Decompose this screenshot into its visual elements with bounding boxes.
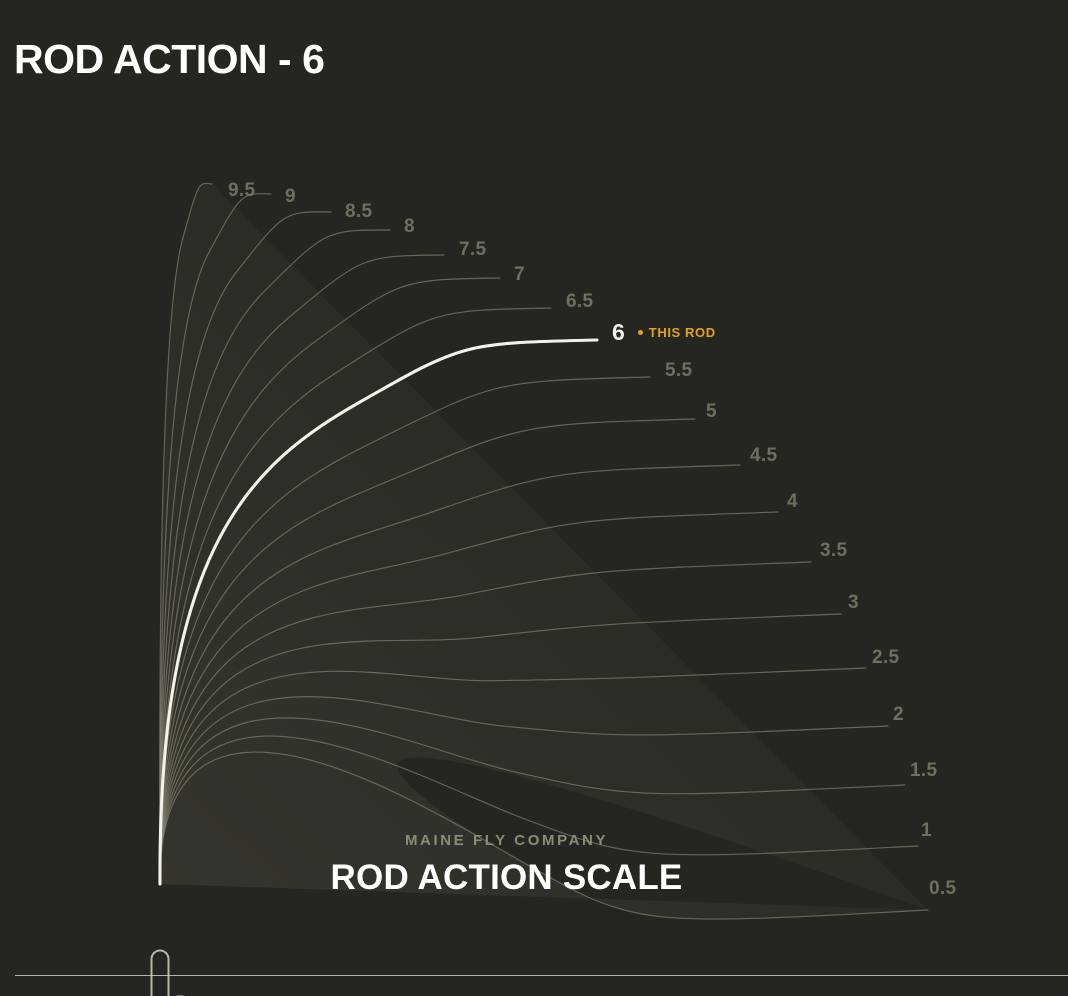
curve-label-4: 4 <box>787 491 798 513</box>
curve-fan-shading <box>160 183 928 919</box>
rod-action-diagram: 9.598.587.576.55.554.543.532.521.510.5 6… <box>0 72 1068 996</box>
curve-label-6-5: 6.5 <box>566 291 593 313</box>
curve-label-4-5: 4.5 <box>750 445 777 467</box>
brand-block: MAINE FLY COMPANY ROD ACTION SCALE <box>0 832 1013 898</box>
curve-fan-shading-shape <box>160 183 928 919</box>
rod-grip-icon <box>152 951 169 996</box>
rod-action-scale-page: ROD ACTION - 6 <box>0 0 1068 996</box>
curve-label-9-5: 9.5 <box>228 180 255 202</box>
curve-label-1-5: 1.5 <box>910 760 937 782</box>
curve-label-3-5: 3.5 <box>820 540 847 562</box>
curve-label-3: 3 <box>848 592 859 614</box>
curve-label-2-5: 2.5 <box>872 647 899 669</box>
curve-label-9: 9 <box>285 186 296 208</box>
brand-headline: ROD ACTION SCALE <box>0 858 1013 898</box>
curve-label-2: 2 <box>893 704 904 726</box>
curve-label-5: 5 <box>706 401 717 423</box>
this-rod-label: THIS ROD <box>649 325 716 340</box>
this-rod-marker: 6 THIS ROD <box>612 319 716 346</box>
curve-label-5-5: 5.5 <box>665 360 692 382</box>
curve-label-8-5: 8.5 <box>345 201 372 223</box>
active-rod-number: 6 <box>612 319 625 346</box>
curve-label-7: 7 <box>514 264 525 286</box>
bottom-divider <box>15 975 1068 976</box>
curve-label-7-5: 7.5 <box>459 239 486 261</box>
bullet-dot-icon <box>638 330 643 335</box>
brand-eyebrow: MAINE FLY COMPANY <box>0 832 1013 849</box>
rod-handle-group <box>152 951 200 996</box>
curve-label-8: 8 <box>404 216 415 238</box>
